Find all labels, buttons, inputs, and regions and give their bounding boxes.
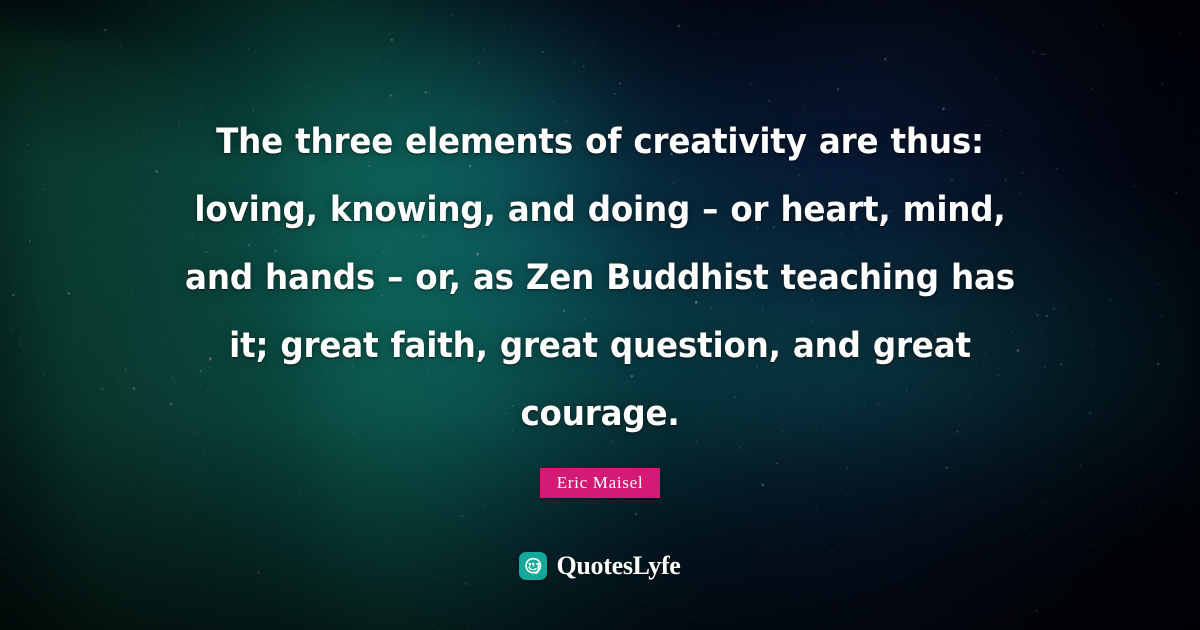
quote-smiley-icon bbox=[519, 552, 547, 580]
author-badge[interactable]: Eric Maisel bbox=[540, 468, 661, 498]
quote-line: courage. bbox=[182, 380, 1019, 448]
quote-line: loving, knowing, and doing – or heart, m… bbox=[182, 176, 1019, 244]
quote-line: and hands – or, as Zen Buddhist teaching… bbox=[182, 244, 1019, 312]
card-content: The three elements of creativity are thu… bbox=[0, 0, 1200, 630]
brand-name: QuotesLyfe bbox=[556, 551, 680, 581]
quote-text: The three elements of creativity are thu… bbox=[182, 108, 1019, 448]
quote-image-card: The three elements of creativity are thu… bbox=[0, 0, 1200, 630]
brand-logo[interactable]: QuotesLyfe bbox=[519, 551, 680, 581]
quote-line: it; great faith, great question, and gre… bbox=[182, 312, 1019, 380]
quote-line: The three elements of creativity are thu… bbox=[182, 108, 1019, 176]
